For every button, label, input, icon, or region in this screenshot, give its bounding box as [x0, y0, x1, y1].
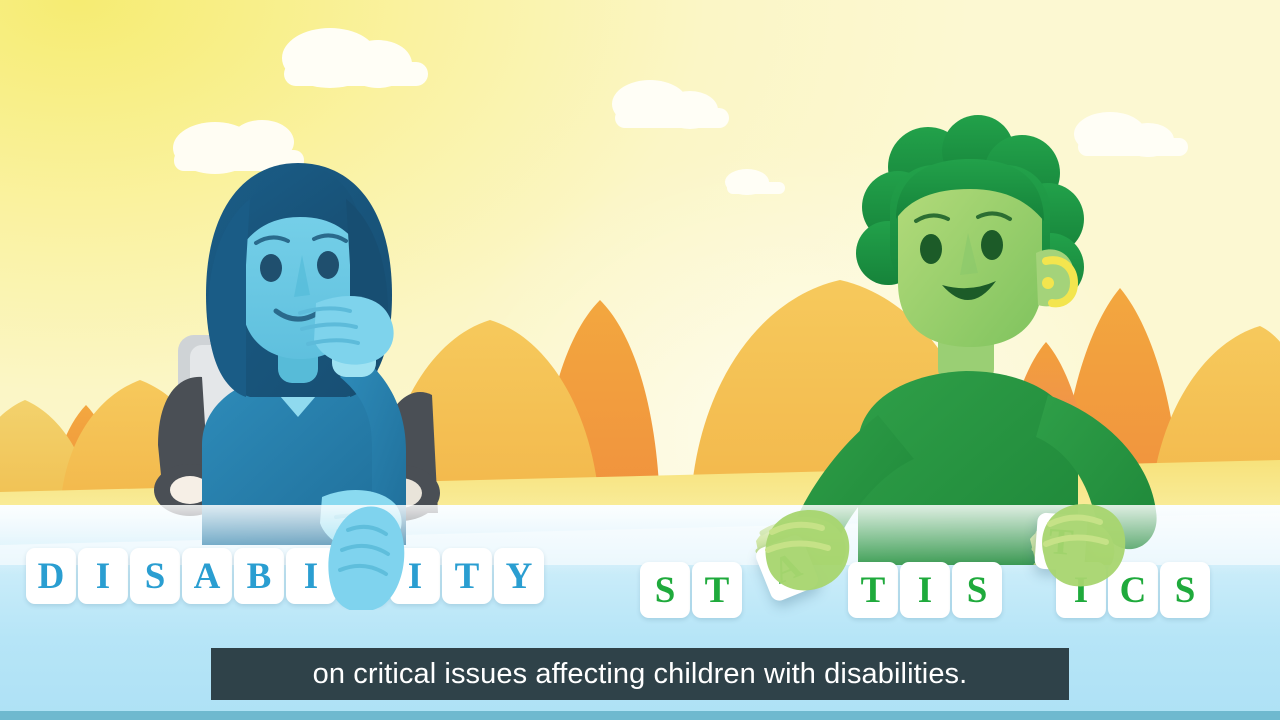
tile-i-1[interactable]: I — [78, 548, 128, 604]
scene-frame: D I S A B I L I T Y S T A T I S T I C S — [0, 0, 1280, 720]
tile-a-3[interactable]: A — [182, 548, 232, 604]
tile-s-5[interactable]: S — [952, 562, 1002, 618]
tile-b-4[interactable]: B — [234, 548, 284, 604]
bottom-progress-bar[interactable] — [0, 711, 1280, 720]
green-eye-left — [920, 234, 942, 264]
woman-hand-overlay — [316, 500, 436, 610]
tile-s-0[interactable]: S — [640, 562, 690, 618]
tile-t-1[interactable]: T — [692, 562, 742, 618]
woman-eye-right — [317, 251, 339, 279]
character-person-with-hearing-aid — [730, 115, 1190, 565]
tile-i-4[interactable]: I — [900, 562, 950, 618]
ear-with-hearing-aid — [1036, 249, 1074, 306]
green-eye-right — [981, 230, 1003, 260]
woman-eye-left — [260, 254, 282, 282]
green-hand-right-overlay — [1030, 500, 1140, 592]
tile-t-8[interactable]: T — [442, 548, 492, 604]
green-hand-left-overlay — [756, 506, 866, 596]
subtitle-text: on critical issues affecting children wi… — [313, 658, 968, 691]
subtitle-bar: on critical issues affecting children wi… — [211, 648, 1069, 700]
tile-y-9[interactable]: Y — [494, 548, 544, 604]
tile-s-2[interactable]: S — [130, 548, 180, 604]
tile-d-0[interactable]: D — [26, 548, 76, 604]
character-woman-in-wheelchair — [150, 145, 480, 545]
tile-s-9[interactable]: S — [1160, 562, 1210, 618]
